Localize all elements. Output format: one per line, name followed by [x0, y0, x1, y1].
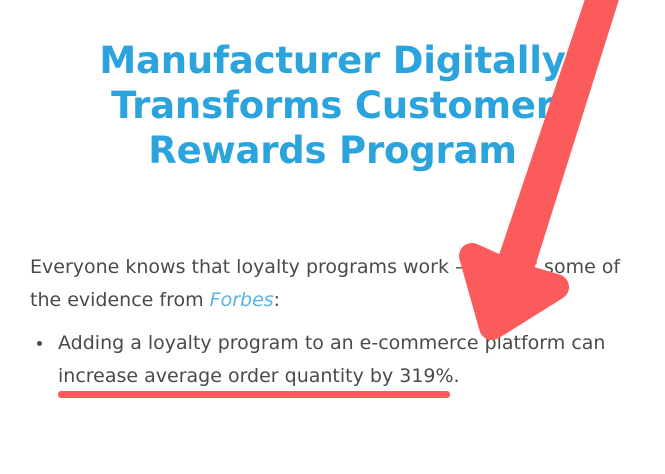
- evidence-list: Adding a loyalty program to an e-commerc…: [30, 327, 638, 393]
- list-item: Adding a loyalty program to an e-commerc…: [30, 327, 638, 393]
- intro-text-after-link: :: [274, 289, 280, 311]
- red-underline-highlight: [58, 391, 450, 398]
- list-item-label: Adding a loyalty program to an e-commerc…: [58, 332, 605, 387]
- page-title: Manufacturer Digitally Transforms Custom…: [30, 38, 635, 173]
- intro-text-before-link: Everyone knows that loyalty programs wor…: [30, 256, 620, 311]
- forbes-link[interactable]: Forbes: [210, 289, 274, 311]
- intro-paragraph: Everyone knows that loyalty programs wor…: [30, 251, 638, 317]
- article-content: Manufacturer Digitally Transforms Custom…: [0, 0, 665, 474]
- bullet-dot-icon: [37, 341, 42, 346]
